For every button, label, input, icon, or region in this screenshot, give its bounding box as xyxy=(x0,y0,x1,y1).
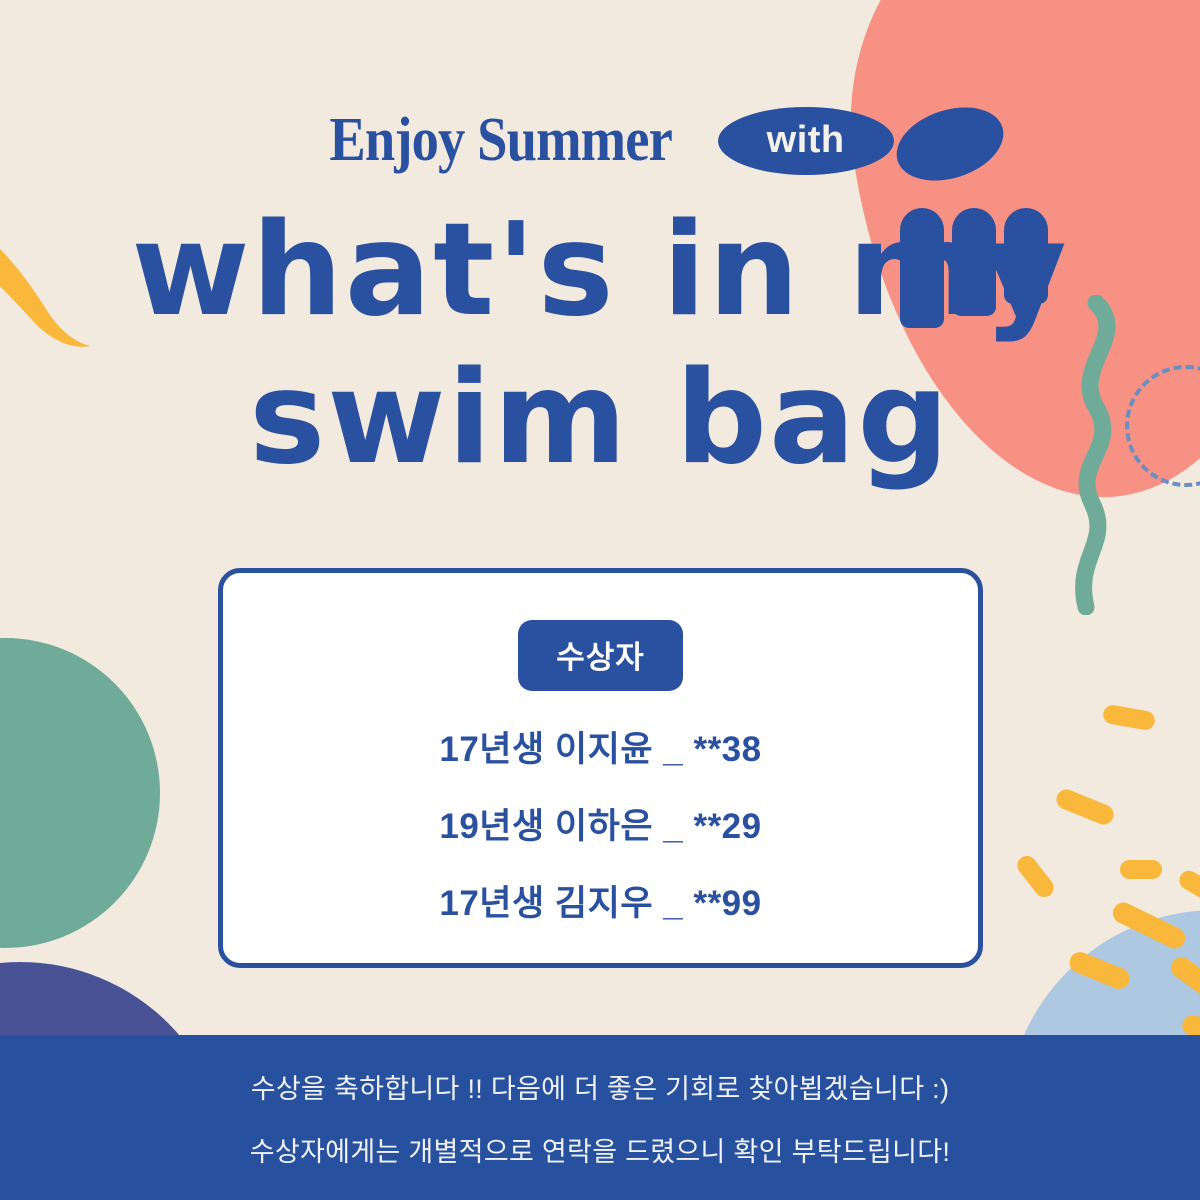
eyebrow-text: Enjoy Summer xyxy=(330,105,673,176)
yellow-dash-shape xyxy=(1109,899,1188,952)
footer-line-2: 수상자에게는 개별적으로 연락을 드렸으니 확인 부탁드립니다! xyxy=(250,1130,950,1169)
title-line-2: swim bag xyxy=(0,344,1200,493)
yellow-dash-shape xyxy=(1053,786,1116,827)
title-line-1: what's in my xyxy=(0,196,1200,345)
winners-card: 수상자 17년생 이지윤 _ **38 19년생 이하은 _ **29 17년생… xyxy=(218,568,983,968)
yellow-dash-shape xyxy=(1014,852,1058,901)
with-label: with xyxy=(767,119,845,162)
list-item: 17년생 이지윤 _ **38 xyxy=(439,721,761,772)
with-pill-badge: with xyxy=(718,107,894,175)
list-item: 19년생 이하은 _ **29 xyxy=(439,798,761,849)
yellow-dash-shape xyxy=(1167,953,1200,1002)
footer-banner: 수상을 축하합니다 !! 다음에 더 좋은 기회로 찾아뵙겠습니다 :) 수상자… xyxy=(0,1035,1200,1200)
winners-list: 17년생 이지윤 _ **38 19년생 이하은 _ **29 17년생 김지우… xyxy=(439,721,761,926)
yellow-dash-shape xyxy=(1120,860,1162,879)
green-circle-shape xyxy=(0,638,160,948)
footer-line-1: 수상을 축하합니다 !! 다음에 더 좋은 기회로 찾아뵙겠습니다 :) xyxy=(251,1067,949,1106)
list-item: 17년생 김지우 _ **99 xyxy=(439,875,761,926)
winners-badge: 수상자 xyxy=(518,620,683,691)
yellow-dash-shape xyxy=(1066,949,1132,992)
eyebrow-row: Enjoy Summer with xyxy=(0,105,1200,176)
yellow-dash-shape xyxy=(1176,867,1200,903)
poster-canvas: Enjoy Summer with what's in my swim bag … xyxy=(0,0,1200,1200)
yellow-dash-shape xyxy=(1102,704,1157,732)
